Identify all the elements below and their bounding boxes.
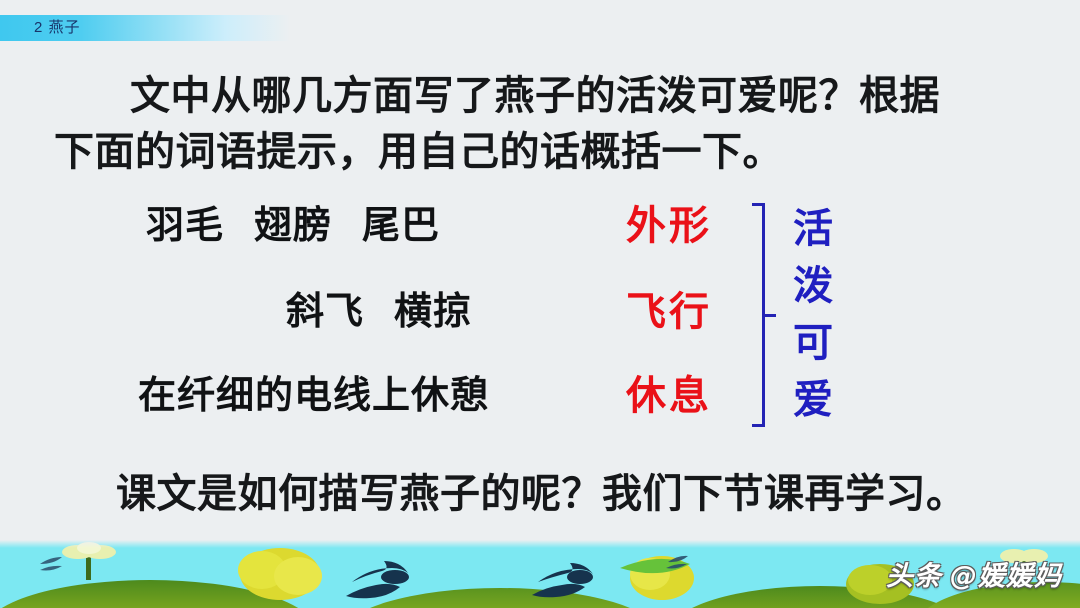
- watermark-brand: 头条: [886, 561, 942, 592]
- summary-char: 爱: [784, 371, 842, 428]
- word-grid: 羽毛翅膀尾巴 外形 斜飞横掠 飞行 在纤细的电线上休憩 休息: [0, 196, 1080, 436]
- question-line-1: 文中从哪几方面写了燕子的活泼可爱呢？根据: [54, 68, 1034, 124]
- term: 翅膀: [254, 205, 332, 247]
- tree-canopy: [274, 557, 322, 595]
- word-row: 斜飞横掠 飞行: [0, 282, 760, 362]
- brace-bottom-arm: [752, 424, 765, 427]
- summary-char: 活: [784, 200, 842, 257]
- slide-canvas: 2 燕子 文中从哪几方面写了燕子的活泼可爱呢？根据 下面的词语提示，用自己的话概…: [0, 0, 1080, 608]
- category-label: 外形: [626, 196, 712, 256]
- term-list: 斜飞横掠: [286, 282, 472, 342]
- word-row: 在纤细的电线上休憩 休息: [0, 366, 760, 446]
- closing-sentence: 课文是如何描写燕子的呢？我们下节课再学习。: [116, 468, 967, 520]
- category-label: 飞行: [626, 282, 712, 342]
- term: 羽毛: [146, 205, 224, 247]
- lesson-title: 2 燕子: [34, 15, 81, 41]
- watermark: 头条@媛媛妈: [886, 562, 1062, 592]
- term-list: 在纤细的电线上休憩: [138, 366, 489, 426]
- term: 斜飞: [286, 291, 364, 333]
- grouping-brace: [752, 203, 776, 427]
- summary-vertical-text: 活 泼 可 爱: [784, 200, 842, 428]
- word-row: 羽毛翅膀尾巴 外形: [0, 196, 760, 276]
- question-text: 文中从哪几方面写了燕子的活泼可爱呢？根据 下面的词语提示，用自己的话概括一下。: [54, 68, 1034, 180]
- summary-char: 可: [784, 314, 842, 371]
- summary-char: 泼: [784, 257, 842, 314]
- term: 横掠: [394, 291, 472, 333]
- watermark-handle: @媛媛妈: [950, 561, 1062, 592]
- term: 尾巴: [362, 205, 440, 247]
- brace-mid-tick: [764, 314, 776, 317]
- band-top-fade: [0, 540, 1080, 548]
- term: 在纤细的电线上休憩: [138, 375, 489, 417]
- category-label: 休息: [626, 366, 712, 426]
- term-list: 羽毛翅膀尾巴: [146, 196, 440, 256]
- question-line-2: 下面的词语提示，用自己的话概括一下。: [54, 124, 1034, 180]
